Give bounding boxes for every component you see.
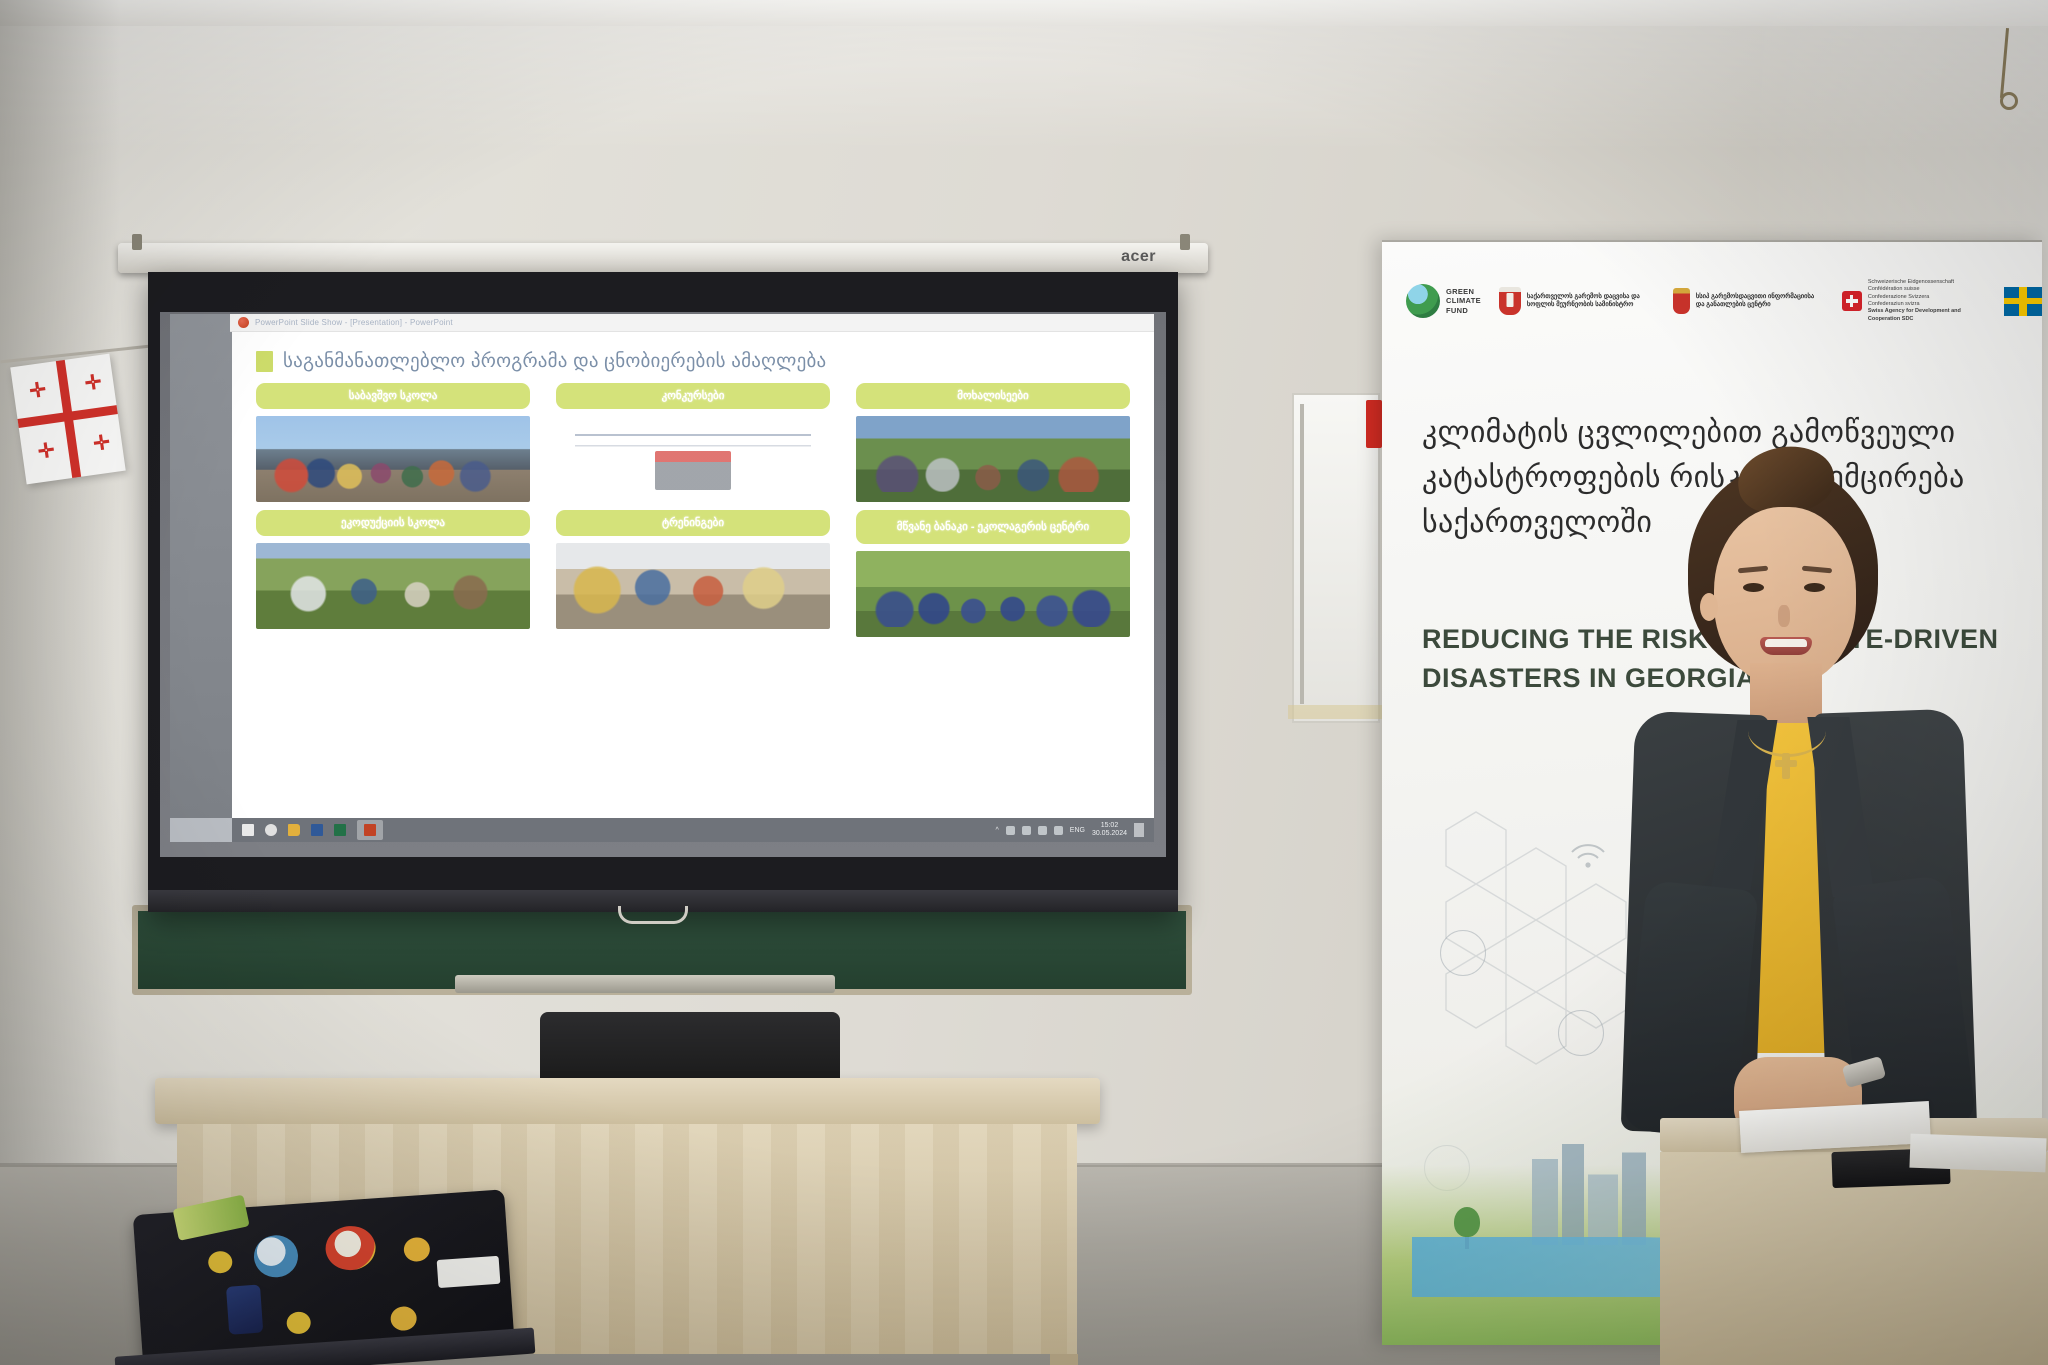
slide-card-photo-volunteers-outdoors	[856, 416, 1130, 502]
slide-title-bullet-icon	[256, 351, 273, 372]
window-title: PowerPoint Slide Show - [Presentation] -…	[255, 318, 453, 327]
show-desktop-button[interactable]	[1134, 823, 1144, 837]
search-icon[interactable]	[265, 824, 277, 836]
desk-top-surface	[155, 1078, 1100, 1124]
sdc-label: Schweizerische EidgenossenschaftConfédér…	[1868, 279, 1986, 324]
swiss-cross-icon	[1842, 291, 1862, 311]
environment-agency-logo: სსიპ გარემოსდაცვითი ინფორმაციისა და განა…	[1673, 288, 1824, 314]
screen-mount-left	[132, 234, 142, 250]
screenshot-scene: ✛ ✛ ✛ ✛ acer PowerPoint Slide Show - [Pr…	[0, 0, 2048, 1365]
slide-card-heading: საბავშვო სკოლა	[256, 383, 530, 409]
poster-graphic	[575, 424, 811, 495]
slide-title-row: საგანმანათლებლო პროგრამა და ცნობიერების …	[256, 350, 1136, 373]
slide-card-heading: მოხალისეები	[856, 383, 1130, 409]
laptop-sticker-navy	[226, 1284, 263, 1334]
slide-card: მწვანე ბანაკი - ეკოლაგერის ცენტრი	[856, 510, 1130, 637]
slide-card: საბავშვო სკოლა	[256, 383, 530, 502]
cross-pendant-icon	[1782, 753, 1790, 779]
nose	[1778, 605, 1790, 627]
taskbar-clock[interactable]: 15:02 30.05.2024	[1092, 822, 1127, 838]
flag-bolnisi-cross-3: ✛	[35, 440, 58, 463]
network-icon[interactable]	[1022, 826, 1031, 835]
acer-brand-label: acer	[1121, 248, 1156, 266]
slide-card-grid: საბავშვო სკოლა კონკურსები მოხალისეები	[250, 383, 1136, 637]
gauge-icon	[1440, 930, 1486, 976]
chalk-tray	[455, 975, 835, 993]
ear	[1700, 593, 1718, 621]
slide-card-photo-group-photo	[256, 416, 530, 502]
system-tray: ^ ENG 15:02 30.05.2024	[995, 822, 1154, 838]
globe-icon	[1406, 284, 1440, 318]
desk-leg-right	[1050, 1354, 1078, 1365]
projector-screen-housing: acer	[118, 243, 1208, 273]
slide-card: კონკურსები	[556, 383, 830, 502]
gcf-label: GREENCLIMATEFUND	[1446, 287, 1481, 315]
slide-card-heading: კონკურსები	[556, 383, 830, 409]
slide-card-heading: მწვანე ბანაკი - ეკოლაგერის ცენტრი	[856, 510, 1130, 544]
language-indicator[interactable]: ENG	[1070, 827, 1085, 834]
laptop-sticker-white-label	[437, 1256, 501, 1288]
file-explorer-icon[interactable]	[288, 824, 300, 836]
wall-shadow-left	[0, 0, 120, 1365]
sweden-sverige-logo: შვედეთი Sverige	[2004, 282, 2042, 321]
banner-top-rail	[1382, 240, 2042, 242]
onedrive-icon[interactable]	[1006, 826, 1015, 835]
necklace	[1748, 705, 1826, 757]
slide-card: ეკოდუქციის სკოლა	[256, 510, 530, 637]
wall-panel-tape	[1288, 705, 1384, 719]
screen-pull-ring[interactable]	[2000, 92, 2018, 110]
wall-highlight-top	[0, 0, 2048, 150]
security-icon[interactable]	[1038, 826, 1047, 835]
banner-logo-row: GREENCLIMATEFUND საქართველოს გარემოს დაც…	[1406, 262, 2026, 340]
laptop-sticker-yellow-1	[208, 1250, 233, 1274]
georgia-crest-icon	[1499, 287, 1521, 315]
windows-taskbar[interactable]: ^ ENG 15:02 30.05.2024	[232, 818, 1154, 842]
taskbar-icons	[232, 820, 383, 840]
slide-card-photo-summer-camp-group	[856, 551, 1130, 637]
teeth	[1765, 639, 1807, 647]
windows-start-icon[interactable]	[242, 824, 254, 836]
flag-bolnisi-cross-4: ✛	[90, 432, 113, 455]
fire-alarm-icon	[1366, 400, 1382, 448]
laptop-sticker-blue-circle	[253, 1234, 300, 1279]
slide-card-photo-field-trip	[256, 543, 530, 629]
laptop-sticker-red-circle	[324, 1224, 377, 1271]
powerpoint-taskbar-button[interactable]	[357, 820, 383, 840]
slide-card-photo-workshop-training	[556, 543, 830, 629]
green-climate-fund-logo: GREENCLIMATEFUND	[1406, 284, 1481, 318]
show-hidden-icons-chevron[interactable]: ^	[995, 827, 998, 834]
ministry-label: საქართველოს გარემოს დაცვისა და სოფლის მე…	[1527, 293, 1655, 310]
swiss-sdc-logo: Schweizerische EidgenossenschaftConfédér…	[1842, 279, 1986, 324]
flag-bolnisi-cross-1: ✛	[26, 379, 49, 402]
sdc-sublabel: Swiss Agency for Development and Coopera…	[1868, 308, 1961, 321]
presentation-slide: საგანმანათლებლო პროგრამა და ცნობიერების …	[232, 332, 1154, 818]
powerpoint-icon	[364, 824, 376, 836]
powerpoint-icon	[238, 317, 249, 328]
projector-screen: PowerPoint Slide Show - [Presentation] -…	[148, 272, 1178, 912]
georgia-ministry-logo: საქართველოს გარემოს დაცვისა და სოფლის მე…	[1499, 287, 1655, 315]
flag-bolnisi-cross-2: ✛	[82, 371, 105, 394]
laptop-sticker-yellow-2	[403, 1237, 431, 1263]
slide-card: მოხალისეები	[856, 383, 1130, 502]
slide-card: ტრენინგები	[556, 510, 830, 637]
screen-mount-right	[1180, 234, 1190, 250]
georgian-flag-icon: ✛ ✛ ✛ ✛	[10, 354, 125, 485]
agency-crest-icon	[1673, 288, 1690, 314]
sweden-flag-icon	[2004, 287, 2042, 316]
agency-label: სსიპ გარემოსდაცვითი ინფორმაციისა და განა…	[1696, 293, 1824, 310]
laptop-sticker-yellow-4	[390, 1306, 418, 1332]
word-icon[interactable]	[311, 824, 323, 836]
eye-right	[1804, 583, 1825, 592]
powerpoint-titlebar[interactable]: PowerPoint Slide Show - [Presentation] -…	[230, 314, 1154, 332]
excel-icon[interactable]	[334, 824, 346, 836]
screen-pull-handle[interactable]	[618, 906, 688, 924]
slide-card-heading: ეკოდუქციის სკოლა	[256, 510, 530, 536]
projected-desktop: PowerPoint Slide Show - [Presentation] -…	[170, 314, 1154, 842]
clock-date: 30.05.2024	[1092, 830, 1127, 838]
paper-sheet	[1909, 1134, 2046, 1173]
slide-card-photo-competition-poster	[556, 416, 830, 502]
wall-panel-strip	[1300, 404, 1304, 704]
slide-card-heading: ტრენინგები	[556, 510, 830, 536]
desktop-left-margin	[170, 314, 232, 818]
laptop-sticker-yellow-3	[286, 1311, 311, 1335]
laptop[interactable]	[105, 1189, 515, 1365]
volume-icon[interactable]	[1054, 826, 1063, 835]
eye-left	[1743, 583, 1764, 592]
face	[1714, 507, 1856, 685]
slide-title: საგანმანათლებლო პროგრამა და ცნობიერების …	[283, 350, 826, 373]
clock-time: 15:02	[1101, 822, 1119, 830]
